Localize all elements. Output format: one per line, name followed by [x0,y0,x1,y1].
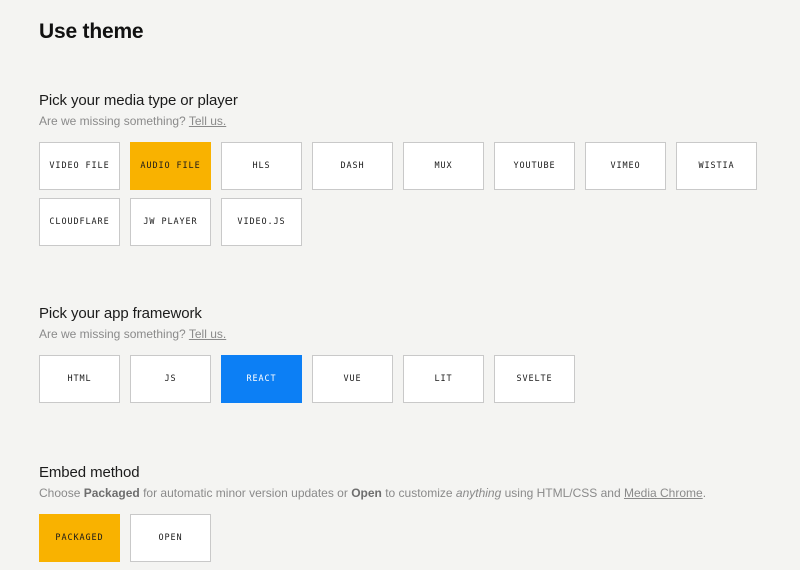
media-type-subtext: Are we missing something? Tell us. [39,114,800,128]
theme-settings-page: Use theme Pick your media type or player… [0,0,800,570]
media-option-video-file[interactable]: VIDEO FILE [39,142,120,190]
media-type-section: Pick your media type or player Are we mi… [39,44,800,254]
option-label: LIT [434,374,452,384]
option-label: JS [164,374,176,384]
option-label: MUX [434,161,452,171]
media-option-dash[interactable]: DASH [312,142,393,190]
media-option-video-js[interactable]: VIDEO.JS [221,198,302,246]
option-label: SVELTE [516,374,552,384]
embed-desc-part-5: . [703,486,706,500]
option-label: VIMEO [610,161,640,171]
media-type-subtext-prefix: Are we missing something? [39,114,186,128]
embed-method-heading: Embed method [39,464,800,481]
option-label: AUDIO FILE [140,161,200,171]
option-label: HTML [67,374,91,384]
media-type-heading: Pick your media type or player [39,92,800,109]
app-framework-heading: Pick your app framework [39,305,800,322]
framework-option-react[interactable]: REACT [221,355,302,403]
app-framework-option-grid: HTMLJSREACTVUELITSVELTE [39,355,779,411]
framework-option-html[interactable]: HTML [39,355,120,403]
media-chrome-link[interactable]: Media Chrome [624,486,703,500]
media-option-jw-player[interactable]: JW PLAYER [130,198,211,246]
option-label: CLOUDFLARE [49,217,109,227]
page-title: Use theme [39,0,800,44]
framework-option-js[interactable]: JS [130,355,211,403]
embed-desc-part-1: Choose [39,486,84,500]
embed-desc-part-2: for automatic minor version updates or [140,486,351,500]
app-framework-subtext-prefix: Are we missing something? [39,327,186,341]
option-label: VIDEO.JS [237,217,285,227]
embed-method-section: Embed method Choose Packaged for automat… [39,411,800,570]
app-framework-subtext: Are we missing something? Tell us. [39,327,800,341]
option-label: YOUTUBE [513,161,555,171]
embed-desc-part-3: to customize [382,486,456,500]
media-option-audio-file[interactable]: AUDIO FILE [130,142,211,190]
embed-desc-italic-anything: anything [456,486,501,500]
framework-option-svelte[interactable]: SVELTE [494,355,575,403]
option-label: VUE [343,374,361,384]
app-framework-section: Pick your app framework Are we missing s… [39,254,800,411]
media-option-cloudflare[interactable]: CLOUDFLARE [39,198,120,246]
embed-desc-bold-open: Open [351,486,382,500]
embed-desc-bold-packaged: Packaged [84,486,140,500]
media-type-option-grid: VIDEO FILEAUDIO FILEHLSDASHMUXYOUTUBEVIM… [39,142,779,254]
option-label: JW PLAYER [143,217,197,227]
media-option-mux[interactable]: MUX [403,142,484,190]
framework-option-vue[interactable]: VUE [312,355,393,403]
embed-option-packaged[interactable]: PACKAGED [39,514,120,562]
framework-option-lit[interactable]: LIT [403,355,484,403]
option-label: PACKAGED [55,533,103,543]
option-label: HLS [252,161,270,171]
media-type-tell-us-link[interactable]: Tell us. [189,114,226,128]
embed-method-option-grid: PACKAGEDOPEN [39,514,779,570]
embed-option-open[interactable]: OPEN [130,514,211,562]
option-label: DASH [340,161,364,171]
option-label: VIDEO FILE [49,161,109,171]
option-label: REACT [246,374,276,384]
embed-method-description: Choose Packaged for automatic minor vers… [39,486,800,500]
embed-desc-part-4: using HTML/CSS and [501,486,624,500]
app-framework-tell-us-link[interactable]: Tell us. [189,327,226,341]
media-option-hls[interactable]: HLS [221,142,302,190]
media-option-wistia[interactable]: WISTIA [676,142,757,190]
option-label: OPEN [158,533,182,543]
media-option-youtube[interactable]: YOUTUBE [494,142,575,190]
option-label: WISTIA [698,161,734,171]
media-option-vimeo[interactable]: VIMEO [585,142,666,190]
